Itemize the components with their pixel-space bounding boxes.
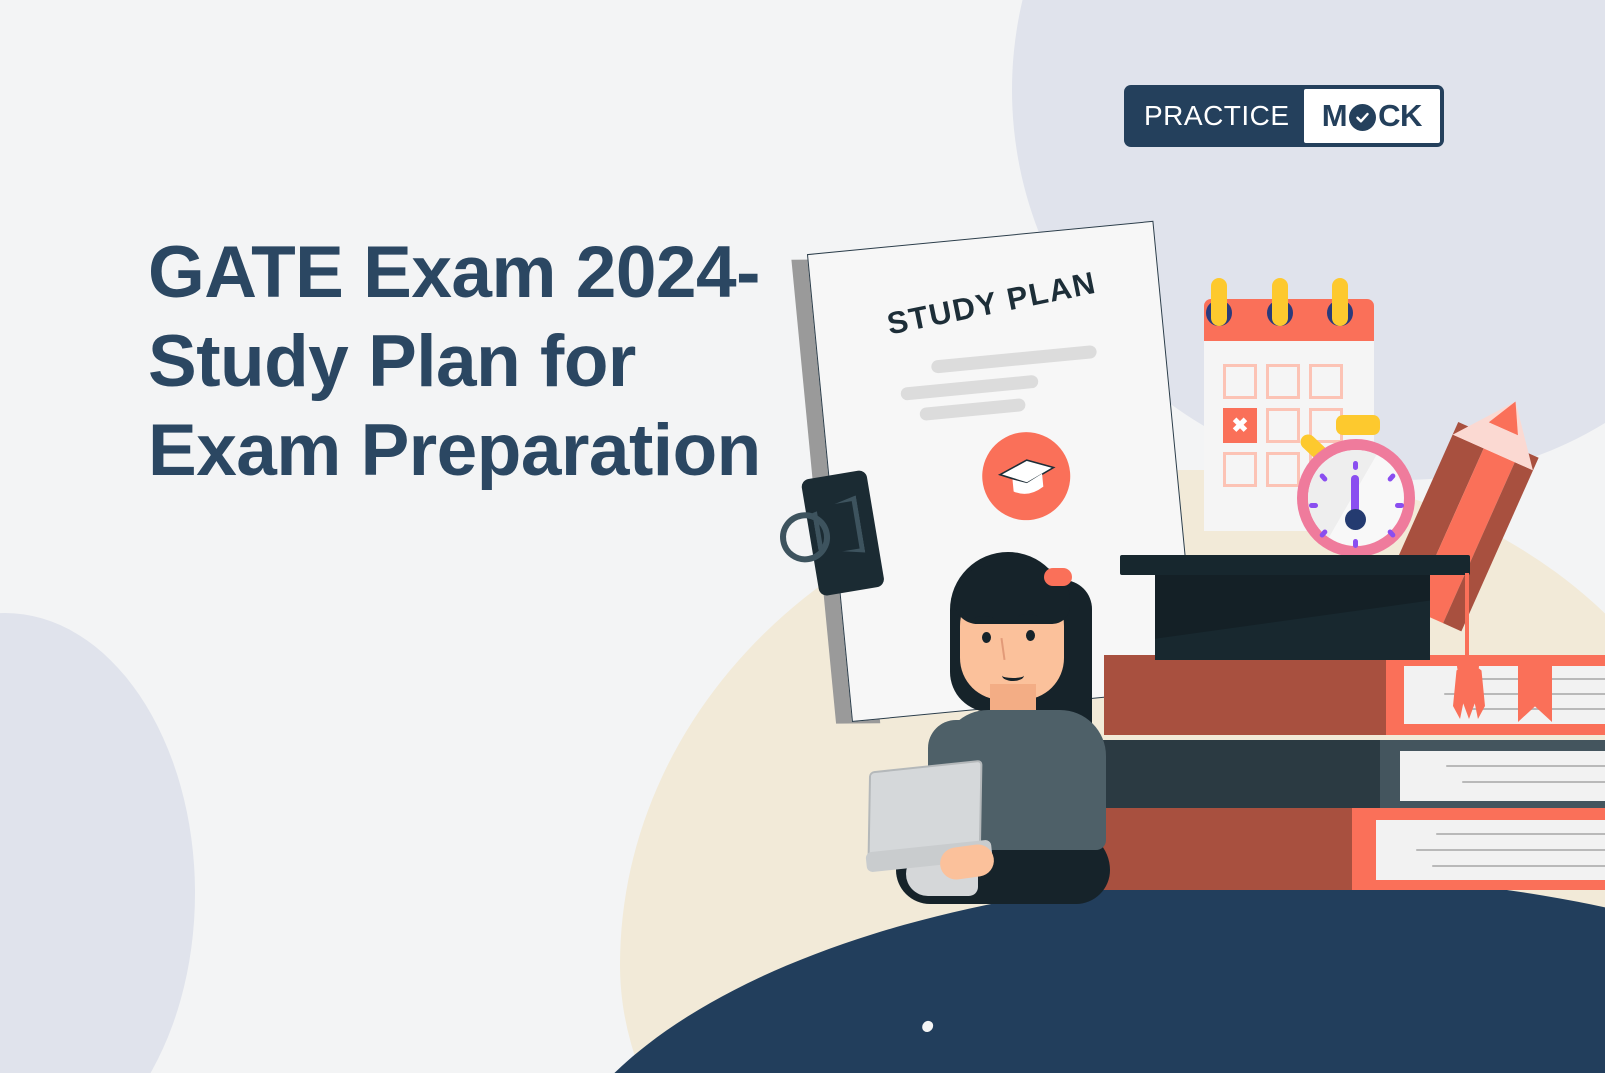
graduation-cap-icon-large xyxy=(1120,555,1470,665)
calendar-cell xyxy=(1223,452,1257,487)
calendar-ring xyxy=(1211,278,1227,326)
calendar-ring xyxy=(1332,278,1348,326)
cap-tassel xyxy=(1453,667,1485,719)
headline-line-3: Exam Preparation xyxy=(148,406,888,495)
book-page-line xyxy=(1446,765,1605,767)
check-mark-glyph xyxy=(1355,110,1370,125)
book-page-line xyxy=(1462,781,1605,783)
calendar-cell xyxy=(1309,364,1343,399)
document-text-line xyxy=(919,398,1026,421)
headline-line-2: Study Plan for xyxy=(148,317,888,406)
book-middle xyxy=(1088,740,1605,812)
calendar-cell xyxy=(1223,364,1257,399)
document-text-line xyxy=(900,375,1039,401)
book-pages xyxy=(1376,820,1605,880)
calendar-cell xyxy=(1266,364,1300,399)
logo-mock-text-after: CK xyxy=(1378,98,1422,134)
clock-rim xyxy=(1297,439,1415,557)
book-page-line xyxy=(1432,865,1605,867)
mouth xyxy=(1002,670,1024,681)
graduation-cap-icon xyxy=(978,428,1074,524)
hair-tie xyxy=(1044,568,1072,586)
cap-tassel-string xyxy=(1465,573,1469,658)
eyebrow-right xyxy=(1018,614,1038,621)
clock-center-pin xyxy=(1345,509,1366,530)
clock-top-button xyxy=(1336,415,1380,435)
book-pages xyxy=(1400,751,1605,801)
document-text-line xyxy=(931,345,1097,374)
clock-tick xyxy=(1387,528,1397,538)
practicemock-logo[interactable]: PRACTICE M CK xyxy=(1124,85,1444,147)
logo-mock-badge: M CK xyxy=(1304,89,1440,143)
document-title: STUDY PLAN xyxy=(884,265,1099,343)
logo-practice-text: PRACTICE xyxy=(1128,89,1304,143)
headline-line-1: GATE Exam 2024- xyxy=(148,228,888,317)
banner-canvas: STUDY PLAN xyxy=(0,0,1605,1073)
book-page-line xyxy=(1436,833,1605,835)
clock-tick xyxy=(1353,539,1358,548)
clock-tick xyxy=(1353,461,1358,470)
logo-mock-text-before: M xyxy=(1322,98,1347,134)
clock-tick xyxy=(1395,503,1404,508)
eye-left xyxy=(982,632,991,643)
eye-right xyxy=(1026,630,1035,641)
book-page-line xyxy=(1468,708,1605,710)
clock-tick xyxy=(1309,503,1318,508)
check-mark-icon xyxy=(1349,104,1376,131)
page-title: GATE Exam 2024- Study Plan for Exam Prep… xyxy=(148,228,888,495)
alarm-clock-icon xyxy=(1288,415,1418,560)
laptop-logo-dot xyxy=(922,1020,933,1032)
book-top xyxy=(1104,655,1605,735)
book-pages xyxy=(1404,666,1605,724)
calendar-ring xyxy=(1272,278,1288,326)
calendar-cell-marked: ✖ xyxy=(1223,408,1257,443)
book-page-line xyxy=(1416,849,1605,851)
illustration-group: STUDY PLAN xyxy=(0,0,1605,1073)
cap-board xyxy=(1120,555,1470,575)
student-with-laptop-illustration xyxy=(862,552,1162,882)
graduation-cap-glyph xyxy=(994,453,1058,501)
eyebrow-left xyxy=(974,616,994,623)
